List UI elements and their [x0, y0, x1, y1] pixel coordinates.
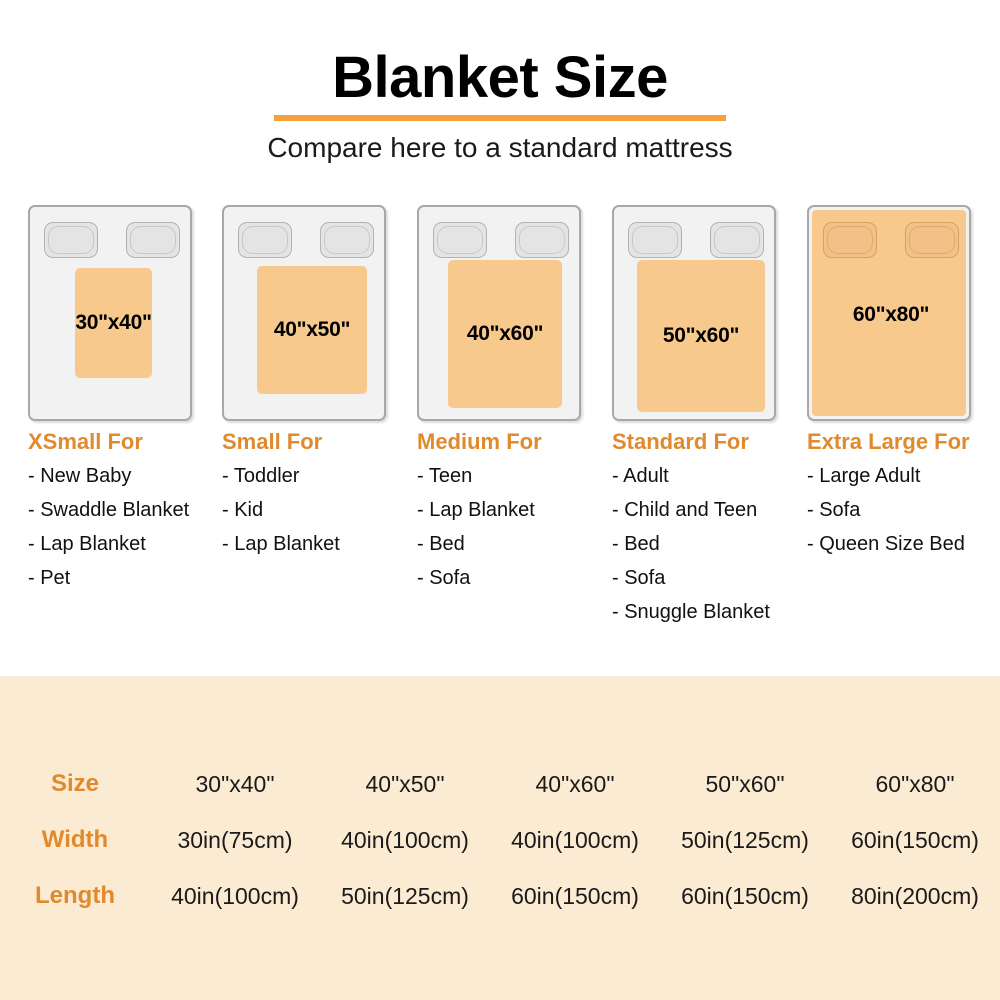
- blanket-overlay: 60"x80": [812, 210, 966, 416]
- list-item: - Swaddle Blanket: [28, 500, 228, 520]
- list-item: - Snuggle Blanket: [612, 602, 812, 622]
- page-title: Blanket Size: [0, 48, 1000, 109]
- row-label-length: Length: [0, 868, 150, 924]
- specification-table: Size 30"x40" 40"x50" 40"x60" 50"x60" 60"…: [0, 756, 1000, 924]
- category-heading: Medium For: [417, 430, 617, 454]
- bed-diagram-extra-large: 60"x80": [807, 205, 971, 421]
- table-cell: 30"x40": [150, 756, 320, 812]
- category-use-list: - Adult - Child and Teen - Bed - Sofa - …: [612, 466, 812, 622]
- list-item: - Sofa: [417, 568, 617, 588]
- mattress-surface: 40"x50": [227, 210, 381, 416]
- table-cell: 60in(150cm): [660, 868, 830, 924]
- category-column-small: Small For - Toddler - Kid - Lap Blanket: [222, 430, 422, 568]
- blanket-size-label: 60"x80": [853, 303, 929, 327]
- table-cell: 50in(125cm): [660, 812, 830, 868]
- category-column-medium: Medium For - Teen - Lap Blanket - Bed - …: [417, 430, 617, 602]
- bed-diagrams-row: 30"x40" 40"x50" 40"x60" 50"x60": [0, 205, 1000, 423]
- title-underline-rule: [274, 115, 726, 121]
- list-item: - Lap Blanket: [28, 534, 228, 554]
- category-use-list: - Large Adult - Sofa - Queen Size Bed: [807, 466, 1000, 554]
- blanket-size-label: 40"x50": [274, 318, 350, 342]
- table-cell: 30in(75cm): [150, 812, 320, 868]
- mattress-surface: 60"x80": [812, 210, 966, 416]
- list-item: - Sofa: [807, 500, 1000, 520]
- pillow-icon: [238, 222, 292, 258]
- blanket-overlay: 40"x60": [448, 260, 562, 408]
- list-item: - Queen Size Bed: [807, 534, 1000, 554]
- specification-panel: Size 30"x40" 40"x50" 40"x60" 50"x60" 60"…: [0, 676, 1000, 1000]
- bed-diagram-small: 40"x50": [222, 205, 386, 421]
- table-row: Length 40in(100cm) 50in(125cm) 60in(150c…: [0, 868, 1000, 924]
- blanket-overlay: 30"x40": [75, 268, 152, 378]
- table-cell: 40in(100cm): [150, 868, 320, 924]
- list-item: - Sofa: [612, 568, 812, 588]
- bed-diagram-medium: 40"x60": [417, 205, 581, 421]
- table-cell: 40"x50": [320, 756, 490, 812]
- list-item: - Adult: [612, 466, 812, 486]
- blanket-size-label: 50"x60": [663, 324, 739, 348]
- pillow-icon: [710, 222, 764, 258]
- list-item: - Teen: [417, 466, 617, 486]
- list-item: - Kid: [222, 500, 422, 520]
- table-cell: 40"x60": [490, 756, 660, 812]
- list-item: - Large Adult: [807, 466, 1000, 486]
- list-item: - Pet: [28, 568, 228, 588]
- list-item: - Bed: [612, 534, 812, 554]
- table-row: Width 30in(75cm) 40in(100cm) 40in(100cm)…: [0, 812, 1000, 868]
- table-cell: 40in(100cm): [490, 812, 660, 868]
- table-row: Size 30"x40" 40"x50" 40"x60" 50"x60" 60"…: [0, 756, 1000, 812]
- list-item: - Child and Teen: [612, 500, 812, 520]
- blanket-overlay: 50"x60": [637, 260, 765, 412]
- list-item: - New Baby: [28, 466, 228, 486]
- table-cell: 80in(200cm): [830, 868, 1000, 924]
- category-use-list: - Teen - Lap Blanket - Bed - Sofa: [417, 466, 617, 588]
- category-heading: XSmall For: [28, 430, 228, 454]
- row-label-width: Width: [0, 812, 150, 868]
- blanket-size-label: 30"x40": [75, 311, 151, 335]
- category-use-list: - Toddler - Kid - Lap Blanket: [222, 466, 422, 554]
- list-item: - Bed: [417, 534, 617, 554]
- category-column-standard: Standard For - Adult - Child and Teen - …: [612, 430, 812, 636]
- category-heading: Extra Large For: [807, 430, 1000, 454]
- list-item: - Lap Blanket: [417, 500, 617, 520]
- mattress-surface: 30"x40": [33, 210, 187, 416]
- pillow-icon: [126, 222, 180, 258]
- row-label-size: Size: [0, 756, 150, 812]
- blanket-overlay: 40"x50": [257, 266, 367, 394]
- list-item: - Lap Blanket: [222, 534, 422, 554]
- category-heading: Standard For: [612, 430, 812, 454]
- bed-diagram-standard: 50"x60": [612, 205, 776, 421]
- table-cell: 40in(100cm): [320, 812, 490, 868]
- pillow-icon: [320, 222, 374, 258]
- category-use-list: - New Baby - Swaddle Blanket - Lap Blank…: [28, 466, 228, 588]
- category-heading: Small For: [222, 430, 422, 454]
- mattress-surface: 40"x60": [422, 210, 576, 416]
- page-header: Blanket Size Compare here to a standard …: [0, 0, 1000, 164]
- list-item: - Toddler: [222, 466, 422, 486]
- page-subtitle: Compare here to a standard mattress: [0, 131, 1000, 165]
- category-column-extra-large: Extra Large For - Large Adult - Sofa - Q…: [807, 430, 1000, 568]
- blanket-size-label: 40"x60": [467, 322, 543, 346]
- table-cell: 60"x80": [830, 756, 1000, 812]
- bed-diagram-xsmall: 30"x40": [28, 205, 192, 421]
- mattress-surface: 50"x60": [617, 210, 771, 416]
- pillow-icon: [628, 222, 682, 258]
- pillow-icon: [515, 222, 569, 258]
- table-cell: 50"x60": [660, 756, 830, 812]
- table-cell: 60in(150cm): [830, 812, 1000, 868]
- category-column-xsmall: XSmall For - New Baby - Swaddle Blanket …: [28, 430, 228, 602]
- pillow-icon: [44, 222, 98, 258]
- pillow-icon: [433, 222, 487, 258]
- table-cell: 60in(150cm): [490, 868, 660, 924]
- table-cell: 50in(125cm): [320, 868, 490, 924]
